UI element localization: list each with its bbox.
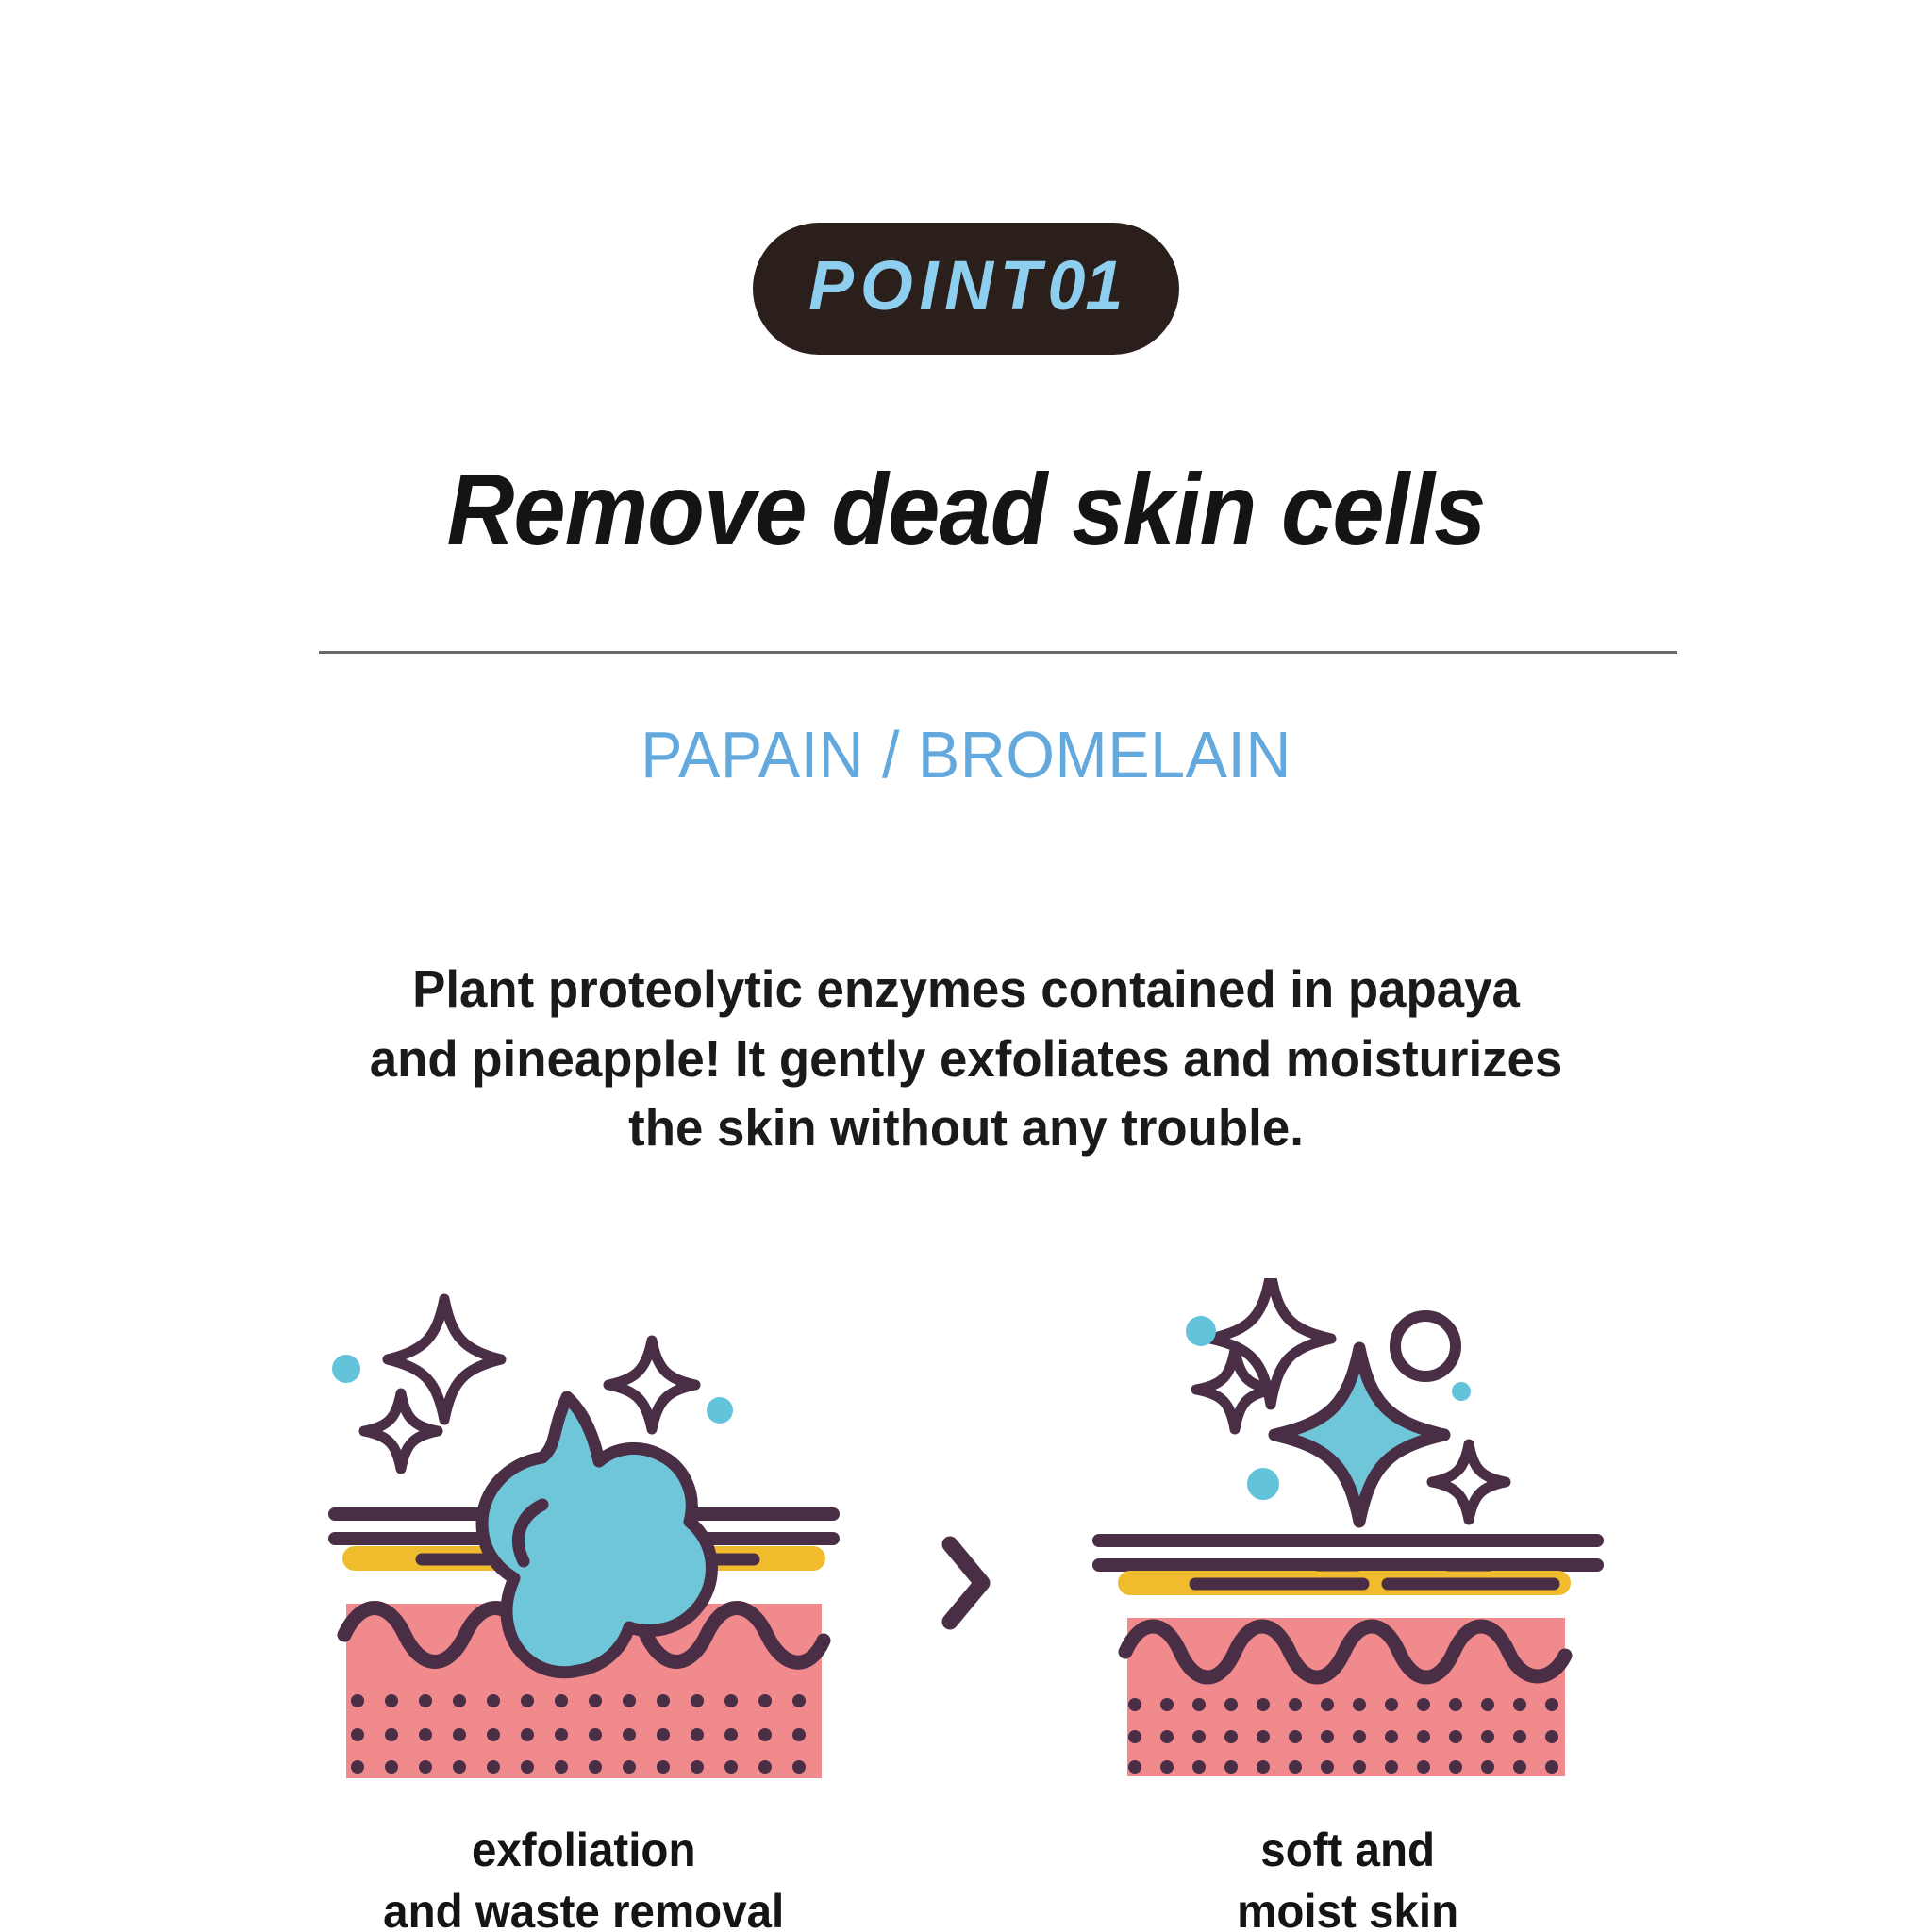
- left-illustration-caption: exfoliation and waste removal: [383, 1820, 784, 1932]
- infographic-page: POINT01 Remove dead skin cells PAPAIN / …: [0, 0, 1932, 1932]
- sparkle-group-left: [364, 1299, 695, 1469]
- star-medium-outline-icon: [608, 1341, 695, 1429]
- point-badge: POINT01: [753, 223, 1178, 355]
- dot-blue-1: [332, 1355, 360, 1383]
- description-line-2: and pineapple! It gently exfoliates and …: [310, 1024, 1622, 1094]
- dot-blue-2: [707, 1397, 733, 1424]
- point-badge-container: POINT01: [0, 223, 1932, 355]
- description-line-1: Plant proteolytic enzymes contained in p…: [310, 955, 1622, 1024]
- dot-blue-right-1: [1186, 1316, 1216, 1346]
- page-title: Remove dead skin cells: [77, 455, 1855, 565]
- point-badge-label: POINT01: [808, 251, 1123, 321]
- star-small-outline-icon: [364, 1393, 438, 1469]
- star-tiny-outline-icon-right: [1432, 1444, 1506, 1520]
- dot-blue-right-3: [1452, 1382, 1471, 1401]
- skin-with-foam-icon: [320, 1278, 848, 1788]
- left-illustration-column: exfoliation and waste removal: [291, 1278, 876, 1932]
- transition-arrow-container: [876, 1278, 1056, 1635]
- right-caption-line-2: moist skin: [1238, 1881, 1459, 1932]
- description-text: Plant proteolytic enzymes contained in p…: [310, 955, 1622, 1163]
- ingredient-subtitle: PAPAIN / BROMELAIN: [48, 717, 1884, 792]
- right-illustration-column: soft and moist skin: [1056, 1278, 1641, 1932]
- right-caption-line-1: soft and: [1238, 1820, 1459, 1881]
- point-badge-number: 01: [1048, 246, 1124, 325]
- dot-blue-right-2: [1247, 1468, 1279, 1500]
- left-caption-line-1: exfoliation: [383, 1820, 784, 1881]
- left-caption-line-2: and waste removal: [383, 1881, 784, 1932]
- right-illustration-caption: soft and moist skin: [1238, 1820, 1459, 1932]
- title-divider: [319, 651, 1677, 654]
- point-badge-prefix: POINT: [808, 246, 1047, 325]
- chevron-right-icon: [933, 1531, 999, 1635]
- circle-outline-icon: [1395, 1316, 1456, 1376]
- illustration-row: exfoliation and waste removal: [0, 1278, 1932, 1932]
- clean-skin-sparkle-icon: [1084, 1278, 1612, 1788]
- description-line-3: the skin without any trouble.: [310, 1093, 1622, 1163]
